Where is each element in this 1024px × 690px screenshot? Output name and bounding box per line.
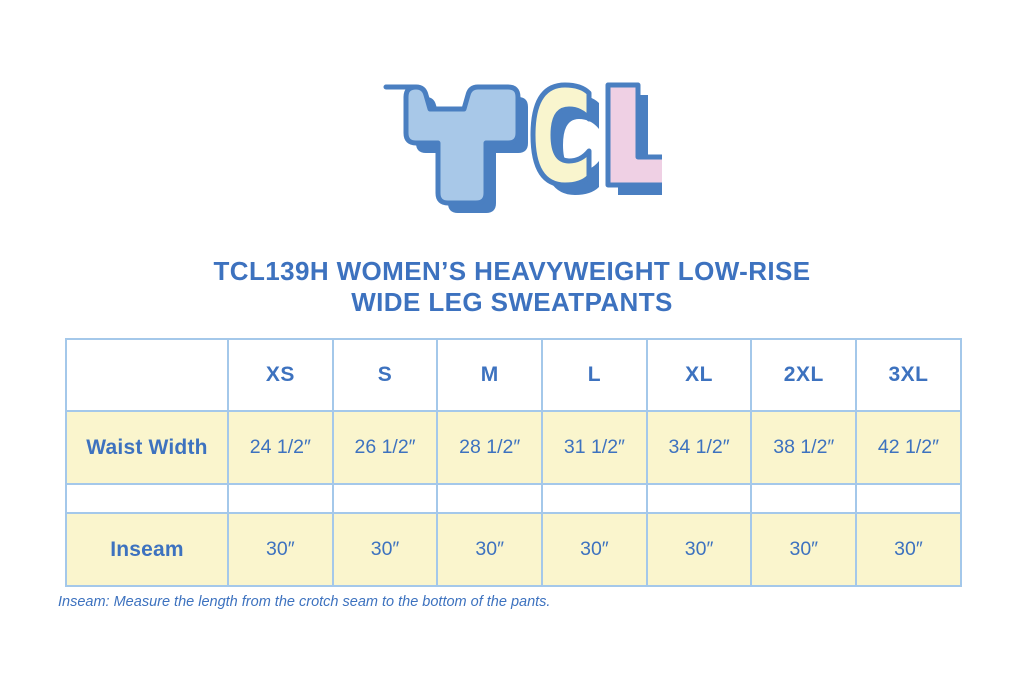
- waist-width-s: 26 1/2″: [333, 411, 438, 484]
- size-header-xs: XS: [228, 339, 333, 411]
- spacer-cell-3xl: [856, 484, 961, 513]
- table-spacer-row: [66, 484, 961, 513]
- table-header-row: XS S M L XL 2XL 3XL: [66, 339, 961, 411]
- spacer-cell-2xl: [751, 484, 856, 513]
- inseam-xs: 30″: [228, 513, 333, 586]
- table-corner-cell: [66, 339, 228, 411]
- tcl-logo-icon: [362, 63, 662, 213]
- waist-width-l: 31 1/2″: [542, 411, 647, 484]
- row-label-waist-width: Waist Width: [66, 411, 228, 484]
- logo-letter-t-tshirt-icon: [386, 87, 518, 203]
- size-header-3xl: 3XL: [856, 339, 961, 411]
- page-title-line-2: WIDE LEG SWEATPANTS: [0, 287, 1024, 318]
- size-chart-table-container: XS S M L XL 2XL 3XL Waist Width 24 1/2″ …: [65, 338, 960, 587]
- spacer-cell-xs: [228, 484, 333, 513]
- inseam-3xl: 30″: [856, 513, 961, 586]
- page-title-line-1: TCL139H WOMEN’S HEAVYWEIGHT LOW-RISE: [0, 256, 1024, 287]
- inseam-footnote: Inseam: Measure the length from the crot…: [58, 594, 550, 610]
- waist-width-xl: 34 1/2″: [647, 411, 752, 484]
- inseam-s: 30″: [333, 513, 438, 586]
- page-title: TCL139H WOMEN’S HEAVYWEIGHT LOW-RISE WID…: [0, 256, 1024, 318]
- inseam-2xl: 30″: [751, 513, 856, 586]
- size-chart-table: XS S M L XL 2XL 3XL Waist Width 24 1/2″ …: [65, 338, 962, 587]
- inseam-m: 30″: [437, 513, 542, 586]
- spacer-cell-xl: [647, 484, 752, 513]
- size-header-2xl: 2XL: [751, 339, 856, 411]
- spacer-cell-l: [542, 484, 647, 513]
- spacer-cell-s: [333, 484, 438, 513]
- logo-letter-l-icon: [608, 85, 662, 185]
- waist-width-3xl: 42 1/2″: [856, 411, 961, 484]
- waist-width-2xl: 38 1/2″: [751, 411, 856, 484]
- spacer-cell-m: [437, 484, 542, 513]
- inseam-l: 30″: [542, 513, 647, 586]
- brand-logo: [0, 58, 1024, 218]
- waist-width-xs: 24 1/2″: [228, 411, 333, 484]
- size-chart-page: TCL139H WOMEN’S HEAVYWEIGHT LOW-RISE WID…: [0, 0, 1024, 690]
- table-row-inseam: Inseam 30″ 30″ 30″ 30″ 30″ 30″ 30″: [66, 513, 961, 586]
- waist-width-m: 28 1/2″: [437, 411, 542, 484]
- table-row-waist-width: Waist Width 24 1/2″ 26 1/2″ 28 1/2″ 31 1…: [66, 411, 961, 484]
- size-header-m: M: [437, 339, 542, 411]
- inseam-xl: 30″: [647, 513, 752, 586]
- size-header-s: S: [333, 339, 438, 411]
- size-header-l: L: [542, 339, 647, 411]
- spacer-cell-label: [66, 484, 228, 513]
- size-header-xl: XL: [647, 339, 752, 411]
- row-label-inseam: Inseam: [66, 513, 228, 586]
